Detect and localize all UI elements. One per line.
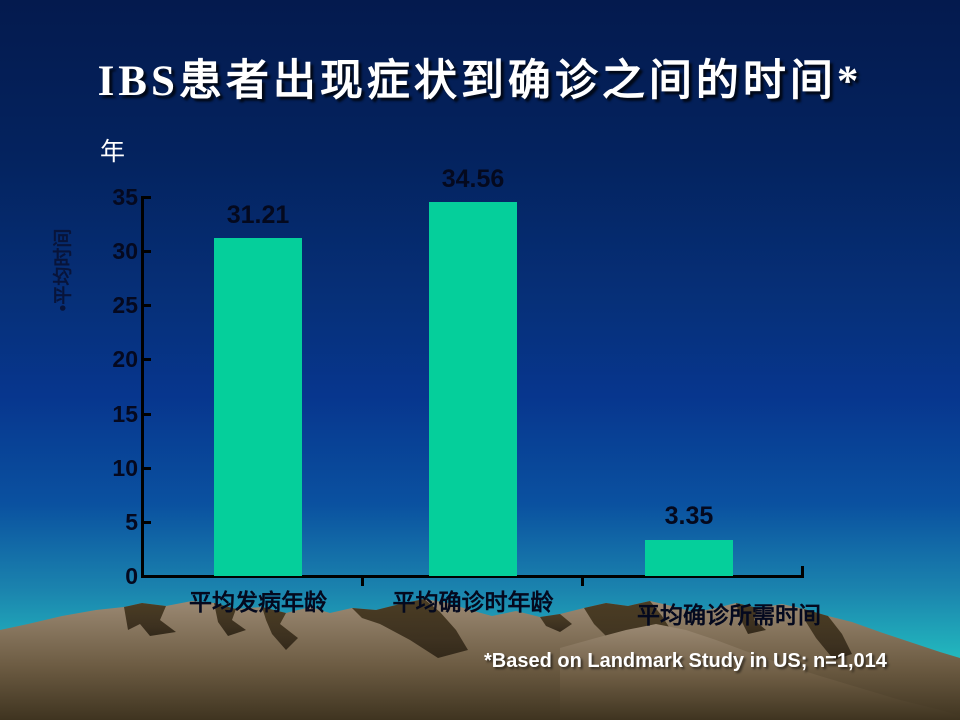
y-tick-mark-30 <box>141 250 151 253</box>
y-tick-mark-20 <box>141 358 151 361</box>
category-label-2: 平均确诊所需时间 <box>599 604 859 627</box>
y-tick-mark-35 <box>141 196 151 199</box>
x-tick-mark-2 <box>581 575 584 586</box>
slide-canvas: IBS患者出现症状到确诊之间的时间* 年 •平均时间 35 30 25 20 1… <box>0 0 960 720</box>
bar-value-1: 34.56 <box>403 167 543 192</box>
bar-chart: 年 •平均时间 35 30 25 20 15 10 5 0 31.21 34.5 <box>0 0 960 720</box>
footnote-text: *Based on Landmark Study in US; n=1,014 <box>484 650 887 673</box>
category-label-1: 平均确诊时年龄 <box>343 591 603 614</box>
bar-0[interactable] <box>214 238 302 576</box>
x-tick-mark-1 <box>361 575 364 586</box>
y-axis-title: •平均时间 <box>48 180 75 360</box>
y-tick-mark-15 <box>141 413 151 416</box>
bar-1[interactable] <box>429 202 517 576</box>
y-tick-mark-10 <box>141 467 151 470</box>
y-tick-mark-5 <box>141 521 151 524</box>
y-tick-mark-25 <box>141 304 151 307</box>
x-axis-right-cap <box>801 566 804 578</box>
y-tick-label-0: 0 <box>92 565 138 588</box>
y-axis-unit-label: 年 <box>100 132 125 168</box>
y-tick-mark-0 <box>141 575 151 578</box>
bar-value-2: 3.35 <box>619 504 759 529</box>
y-tick-label-20: 20 <box>92 348 138 371</box>
y-tick-label-15: 15 <box>92 403 138 426</box>
y-tick-label-5: 5 <box>92 511 138 534</box>
y-tick-label-10: 10 <box>92 457 138 480</box>
y-tick-label-35: 35 <box>92 186 138 209</box>
y-tick-label-25: 25 <box>92 294 138 317</box>
bar-value-0: 31.21 <box>188 203 328 228</box>
bar-2[interactable] <box>645 540 733 576</box>
y-tick-label-30: 30 <box>92 240 138 263</box>
